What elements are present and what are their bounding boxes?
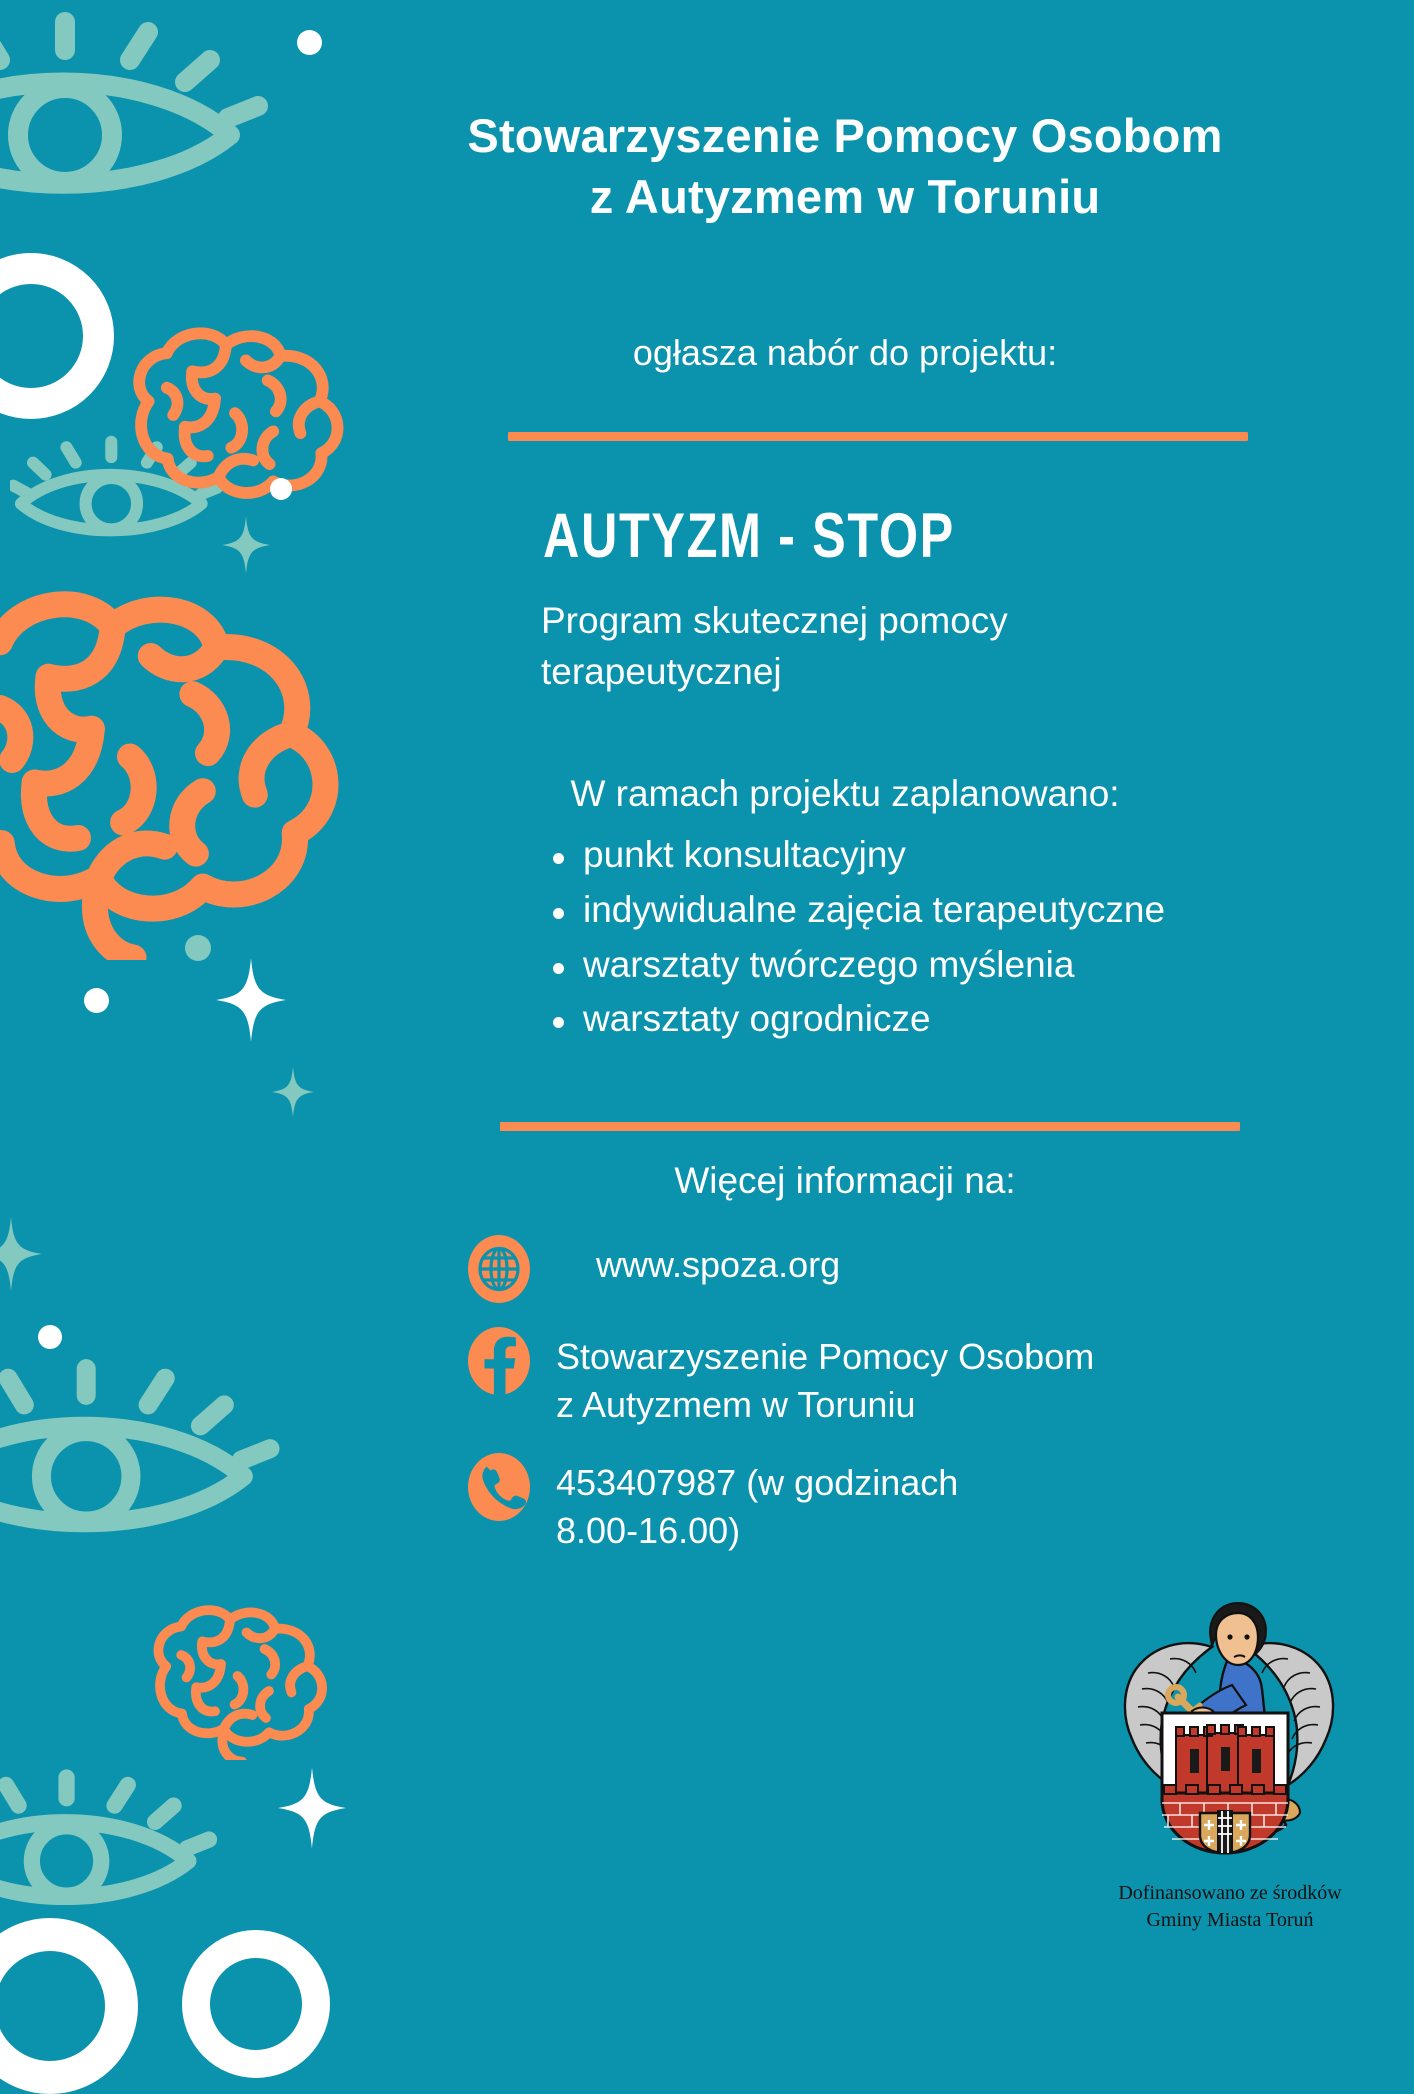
funding-caption: Dofinansowano ze środków Gminy Miasta To… [1055,1880,1405,1934]
phone-icon [468,1453,530,1521]
funding-caption-line2: Gminy Miasta Toruń [1055,1907,1405,1934]
divider-bottom [500,1122,1240,1131]
facebook-icon [468,1327,530,1395]
list-item: warsztaty ogrodnicze [545,992,1165,1047]
phone-line2: 8.00-16.00) [556,1510,740,1551]
contact-row-phone[interactable]: 453407987 (w godzinach 8.00-16.00) [468,1453,1288,1555]
project-subtitle-line1: Program skutecznej pomocy [541,595,1221,646]
announcement-text: ogłasza nabór do projektu: [380,330,1310,377]
contact-row-website[interactable]: www.spoza.org [468,1235,1288,1303]
phone-line1: 453407987 (w godzinach [556,1462,958,1503]
website-url[interactable]: www.spoza.org [556,1235,840,1289]
phone-number[interactable]: 453407987 (w godzinach 8.00-16.00) [556,1453,958,1555]
list-item: punkt konsultacyjny [545,828,1165,883]
project-subtitle: Program skutecznej pomocy terapeutycznej [541,595,1221,697]
facebook-line2: z Autyzmem w Toruniu [556,1384,915,1425]
divider-top [508,432,1248,441]
list-item: indywidualne zajęcia terapeutyczne [545,883,1165,938]
list-item: warsztaty twórczego myślenia [545,938,1165,993]
funding-caption-line1: Dofinansowano ze środków [1055,1880,1405,1907]
poster-content: Stowarzyszenie Pomocy Osobom z Autyzmem … [0,0,1414,2000]
plan-list: punkt konsultacyjny indywidualne zajęcia… [545,828,1165,1047]
org-title-line2: z Autyzmem w Toruniu [380,166,1310,227]
globe-icon [468,1235,530,1303]
contact-heading: Więcej informacji na: [380,1160,1310,1202]
facebook-line1: Stowarzyszenie Pomocy Osobom [556,1336,1094,1377]
facebook-page-name[interactable]: Stowarzyszenie Pomocy Osobom z Autyzmem … [556,1327,1094,1429]
org-title-line1: Stowarzyszenie Pomocy Osobom [380,105,1310,166]
project-title: AUTYZM - STOP [543,500,955,572]
contact-row-facebook[interactable]: Stowarzyszenie Pomocy Osobom z Autyzmem … [468,1327,1288,1429]
contact-list: www.spoza.org Stowarzyszenie Pomocy Osob… [468,1235,1288,1579]
project-subtitle-line2: terapeutycznej [541,646,1221,697]
plan-heading: W ramach projektu zaplanowano: [380,770,1310,818]
page-title: Stowarzyszenie Pomocy Osobom z Autyzmem … [380,105,1310,227]
torun-coat-of-arms-logo [1100,1585,1350,1875]
